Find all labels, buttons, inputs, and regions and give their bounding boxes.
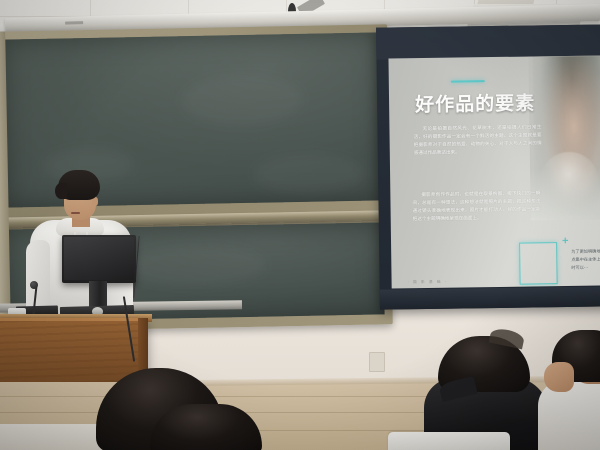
slide-footer-text: · 摄 影 基 础 · <box>408 280 448 286</box>
title-accent-line <box>451 80 485 82</box>
chair-backrest <box>388 432 510 450</box>
presentation-slide: 好作品的要素 无论是拍摄自然风光、花草树木，还是拍摄人们日常生活，好的摄影作品一… <box>388 55 600 288</box>
presenter-mouth <box>71 212 80 214</box>
screen-top-border <box>376 24 600 59</box>
microphone-icon <box>30 281 38 289</box>
classroom-photo: 好作品的要素 无论是拍摄自然风光、花草树木，还是拍摄人们日常生活，好的摄影作品一… <box>0 0 600 450</box>
presenter-left-arm <box>26 240 50 316</box>
screen-bottom-border <box>380 286 600 309</box>
presenter-hair <box>58 170 100 200</box>
dell-monitor <box>62 235 136 283</box>
housing-brand-mark <box>65 21 83 24</box>
wall-outlet-plate <box>369 352 385 372</box>
slide-note-text: 为了更加明确地全部焦点集中在主体上，拍摄时可以⋯ <box>571 247 600 271</box>
student-front-left-lower <box>150 404 262 450</box>
plus-icon: + <box>562 236 569 247</box>
projection-screen: 好作品的要素 无论是拍摄自然风光、花草树木，还是拍摄人们日常生活，好的摄影作品一… <box>376 24 600 309</box>
student-hand <box>544 362 574 392</box>
student-right-white-top <box>524 330 600 450</box>
student-head <box>150 404 262 450</box>
slide-paragraph-2: 摄影师创作作品时，也就是在取景构图、按下快门的一瞬间，总是有一种想法，这种想法就… <box>412 190 540 223</box>
slide-highlight-frame <box>519 242 558 285</box>
slide-title: 好作品的要素 <box>415 88 535 117</box>
slide-paragraph-1: 无论是拍摄自然风光、花草树木，还是拍摄人们日常生活，好的摄影作品一定会有一个鲜活… <box>413 124 541 157</box>
